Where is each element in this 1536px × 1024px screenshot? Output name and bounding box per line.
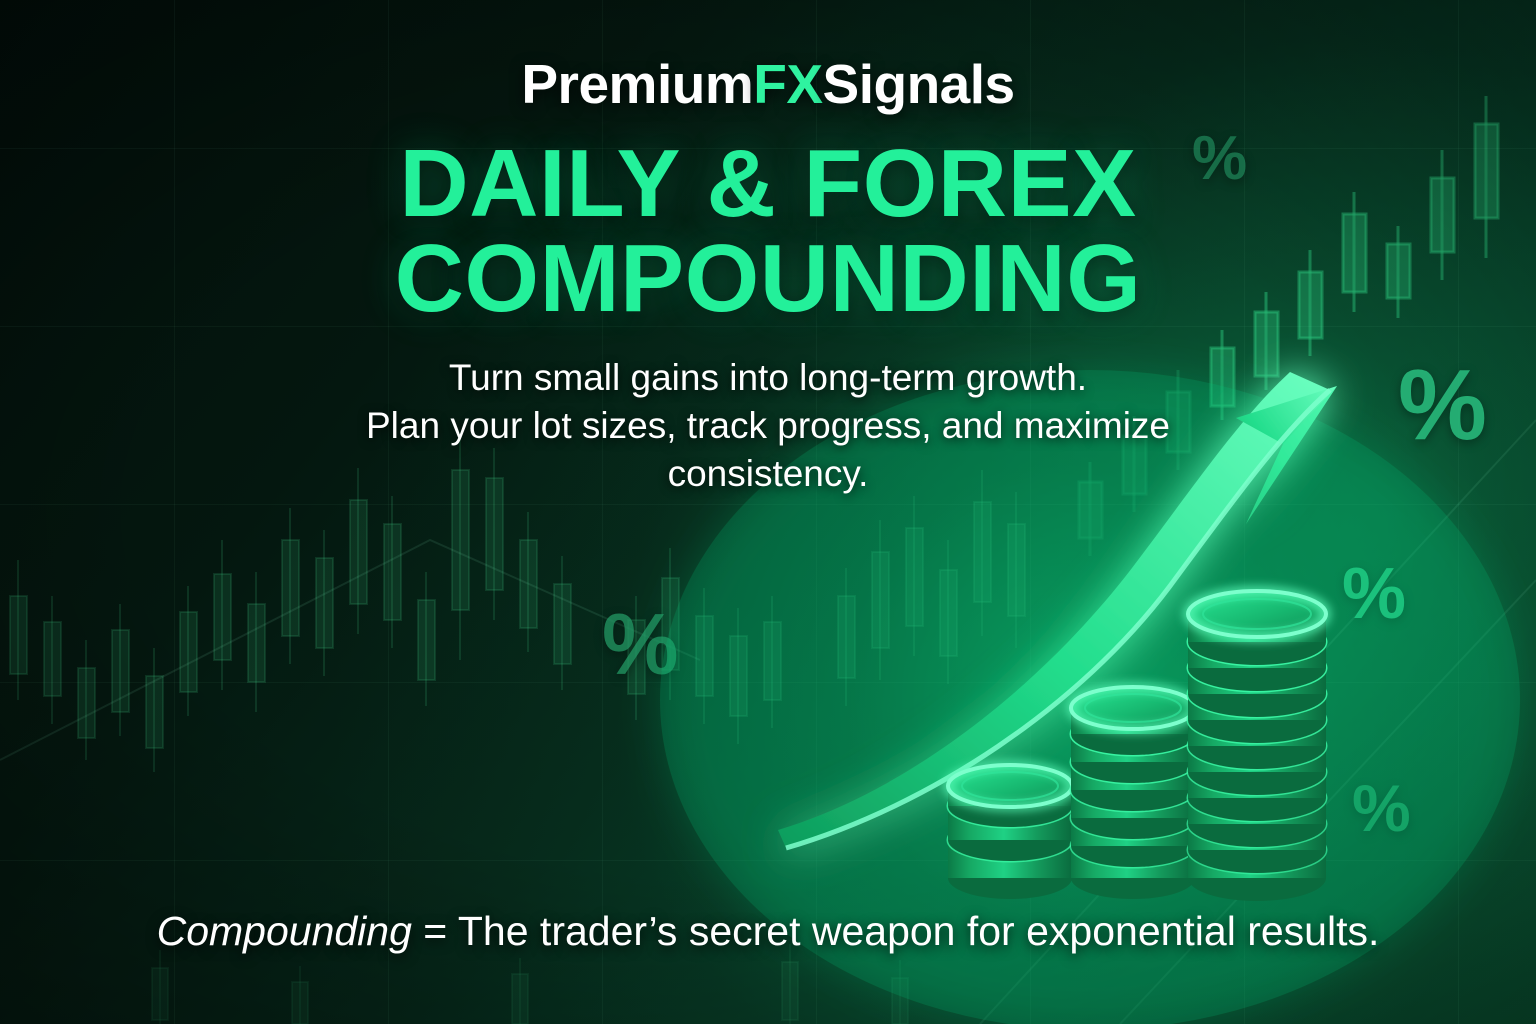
footer-tagline: Compounding = The trader’s secret weapon… — [0, 908, 1536, 955]
promotional-banner: % % % % % — [0, 0, 1536, 1024]
footer-rest: = The trader’s secret weapon for exponen… — [412, 908, 1379, 954]
brand-logo: PremiumFXSignals — [521, 52, 1014, 116]
subtitle-line-1: Turn small gains into long-term growth. — [366, 354, 1170, 402]
banner-content: PremiumFXSignals DAILY & FOREX COMPOUNDI… — [0, 0, 1536, 1024]
subtitle-line-2: Plan your lot sizes, track progress, and… — [366, 402, 1170, 450]
subtitle-line-3: consistency. — [366, 450, 1170, 498]
headline-line-2: COMPOUNDING — [395, 231, 1142, 326]
headline-line-1: DAILY & FOREX — [399, 130, 1136, 237]
footer-emphasis: Compounding — [157, 908, 412, 954]
logo-suffix: Signals — [823, 53, 1015, 115]
logo-prefix: Premium — [521, 53, 753, 115]
logo-accent: FX — [753, 53, 822, 115]
subtitle: Turn small gains into long-term growth. … — [366, 354, 1170, 498]
page-title: DAILY & FOREX COMPOUNDING — [395, 136, 1142, 326]
